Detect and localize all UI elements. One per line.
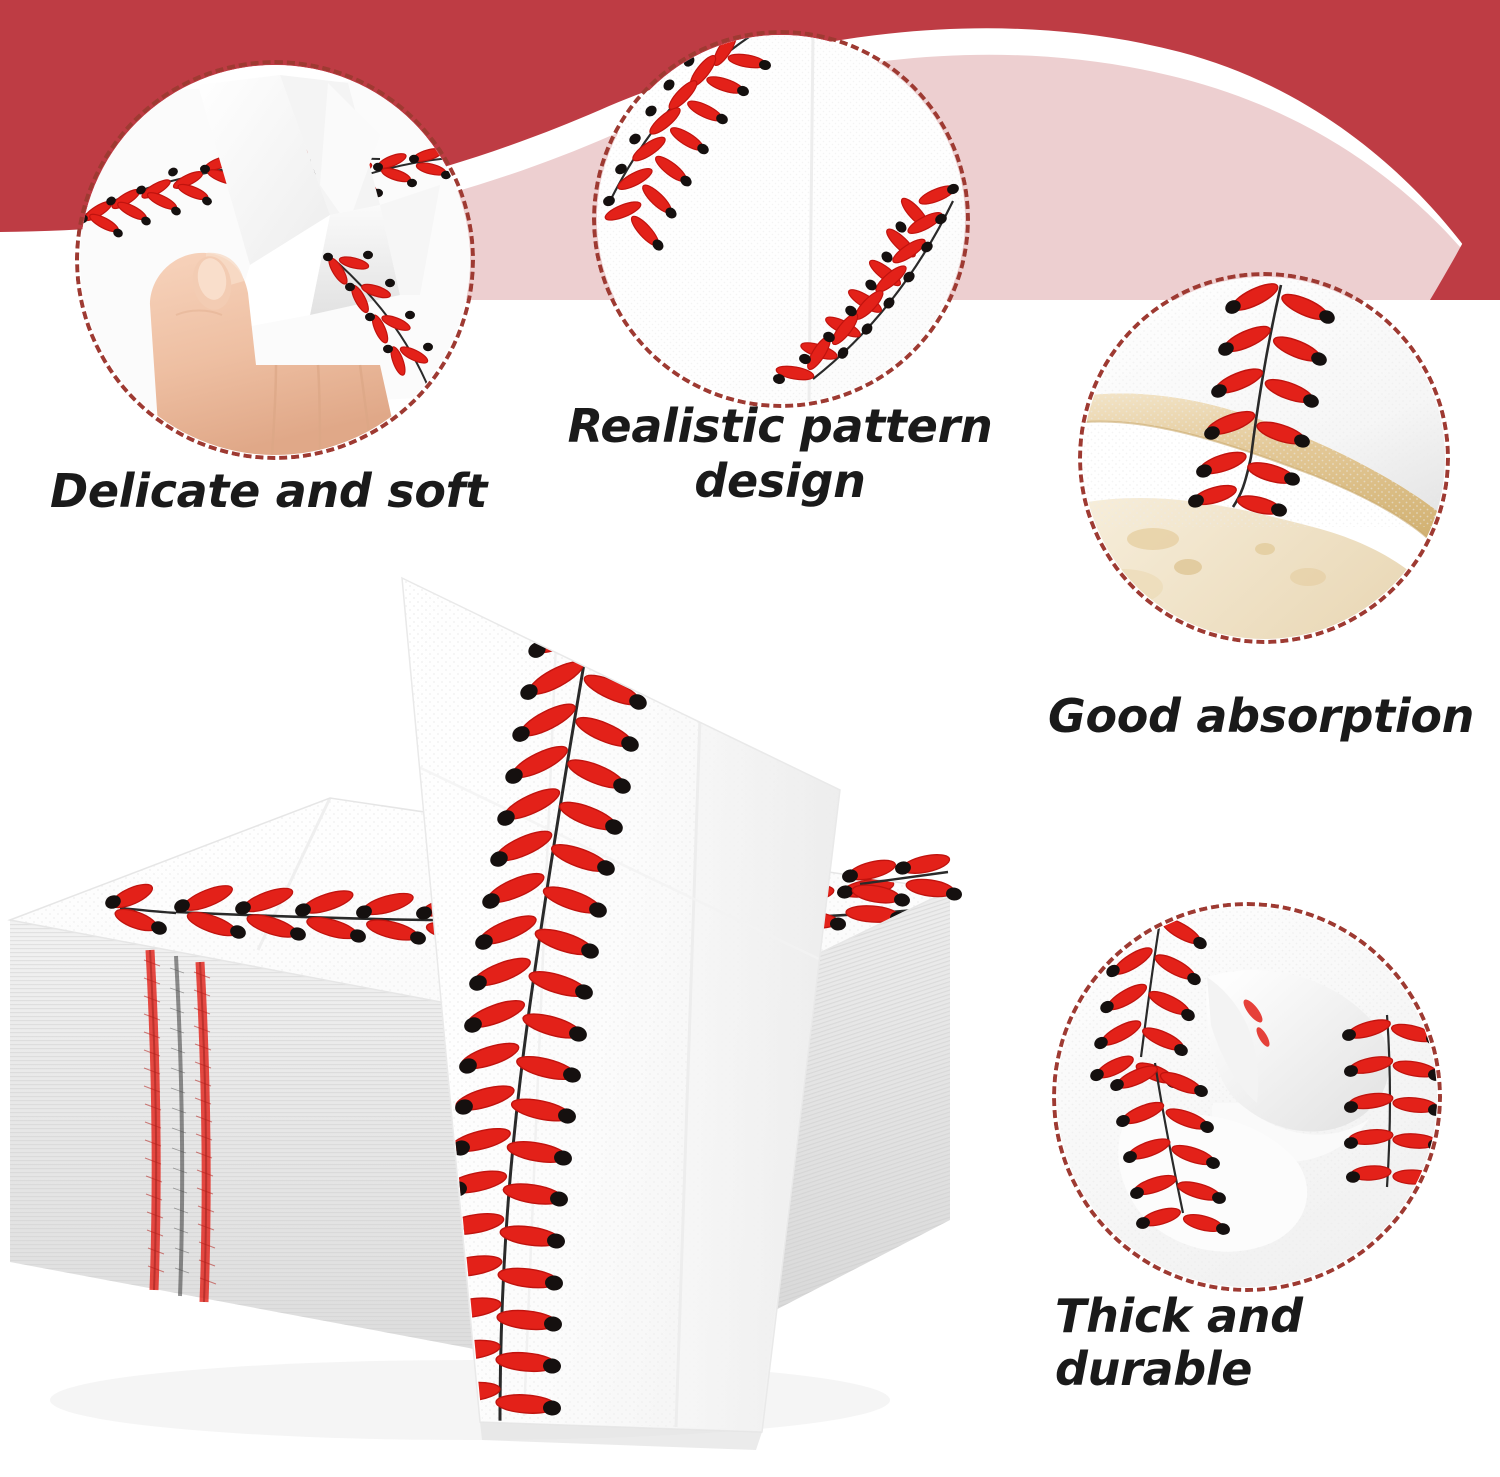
feature-circle-good-absorption — [1078, 272, 1450, 644]
caption-delicate-and-soft: Delicate and soft — [50, 465, 520, 518]
baseball-seam-napkin-icon — [597, 35, 965, 403]
feature-circle-thick-and-durable — [1052, 902, 1442, 1292]
folded-thick-napkins-icon — [1057, 907, 1437, 1287]
caption-thick-and-durable: Thick and durable — [1055, 1290, 1500, 1396]
napkin-absorbing-spill-icon — [1083, 277, 1445, 639]
banner-red-wedge — [1430, 175, 1500, 300]
caption-realistic-pattern-design-line2: design — [560, 455, 1000, 508]
feature-circle-realistic-pattern-design — [592, 30, 970, 408]
feature-circle-delicate-and-soft — [75, 60, 475, 460]
caption-realistic-pattern-design-line1: Realistic pattern — [560, 400, 1000, 453]
hand-holding-napkin-icon — [80, 65, 470, 455]
product-infographic-page: Delicate and soft — [0, 0, 1500, 1477]
stack-edge-seam-lines — [144, 950, 216, 1302]
product-shot — [0, 520, 1030, 1470]
caption-good-absorption: Good absorption — [1048, 690, 1498, 743]
